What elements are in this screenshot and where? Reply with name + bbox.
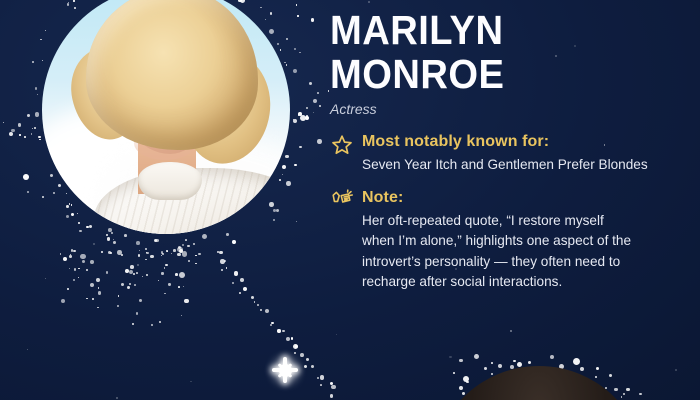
star-dot <box>146 274 149 277</box>
star-dot <box>296 221 297 222</box>
star-dot <box>124 234 127 237</box>
star-dot <box>132 323 135 326</box>
star-dot <box>130 265 134 269</box>
star-dot <box>317 139 322 144</box>
star-dot <box>19 134 20 135</box>
star-dot <box>116 397 118 399</box>
star-dot <box>113 239 114 240</box>
star-dot <box>179 272 185 278</box>
star-dot <box>299 52 300 53</box>
star-dot <box>106 234 108 236</box>
star-dot <box>117 250 122 255</box>
star-dot <box>298 112 302 116</box>
star-dot <box>550 355 554 359</box>
star-dot <box>304 365 307 368</box>
star-dot <box>300 115 306 121</box>
star-dot <box>181 315 183 317</box>
star-dot <box>219 251 223 255</box>
star-dot <box>73 279 75 281</box>
star-dot <box>92 298 94 300</box>
star-dot <box>623 393 625 395</box>
star-dot <box>139 299 142 302</box>
star-dot <box>202 234 207 239</box>
star-dot <box>158 280 159 281</box>
star-dot <box>171 253 172 254</box>
star-dot <box>136 241 140 245</box>
star-dot <box>69 255 72 258</box>
section-note: Note: Her oft-repeated quote, “I restore… <box>330 189 688 293</box>
star-dot <box>35 112 39 116</box>
star-dot <box>187 245 190 248</box>
star-dot <box>317 92 319 94</box>
star-dot <box>27 114 30 117</box>
star-dot <box>3 122 5 124</box>
title-line-2: MONROE <box>330 52 663 96</box>
star-dot <box>220 259 224 263</box>
star-dot <box>198 253 200 255</box>
star-dot <box>294 352 296 354</box>
star-dot <box>110 252 112 254</box>
star-dot <box>596 367 599 370</box>
star-dot <box>150 255 153 258</box>
star-dot <box>32 128 33 129</box>
note-icon <box>330 189 354 213</box>
section-heading: Note: <box>362 189 688 207</box>
star-dot <box>86 298 88 300</box>
star-dot <box>11 129 14 132</box>
star-dot <box>474 354 479 359</box>
star-dot <box>101 251 103 253</box>
star-dot <box>317 377 319 379</box>
star-dot <box>71 249 73 251</box>
star-dot <box>459 359 462 362</box>
star-dot <box>39 139 40 140</box>
star-dot <box>251 296 254 299</box>
page-title: MARILYN MONROE <box>330 8 663 96</box>
star-dot <box>161 272 163 274</box>
star-dot <box>510 330 512 332</box>
star-dot <box>466 381 468 383</box>
star-dot <box>621 396 623 398</box>
star-dot <box>129 270 133 274</box>
star-dot <box>260 309 262 311</box>
section-body: Seven Year Itch and Gentlemen Prefer Blo… <box>362 155 688 176</box>
star-dot <box>161 251 163 253</box>
star-dot <box>133 273 135 275</box>
star-dot <box>306 358 310 362</box>
body-line: recharge after social interactions. <box>362 272 688 293</box>
star-dot <box>178 286 180 288</box>
star-dot <box>306 107 307 108</box>
star-dot <box>173 249 176 252</box>
star-dot <box>80 254 86 260</box>
star-dot <box>293 119 297 123</box>
star-dot <box>74 268 77 271</box>
star-dot <box>296 4 298 6</box>
star-dot <box>271 322 273 324</box>
star-dot <box>336 334 337 335</box>
star-dot <box>224 260 226 262</box>
body-line: Seven Year Itch and Gentlemen Prefer Blo… <box>362 155 688 176</box>
star-dot <box>293 344 298 349</box>
star-dot <box>164 267 165 268</box>
star-dot <box>254 301 256 303</box>
star-dot <box>125 269 129 273</box>
star-dot <box>154 239 157 242</box>
star-dot <box>139 250 140 251</box>
next-portrait-avatar <box>432 366 646 400</box>
star-dot <box>299 146 302 149</box>
star-dot <box>217 251 219 253</box>
body-line: Her oft-repeated quote, “I restore mysel… <box>362 211 688 232</box>
star-dot <box>145 259 146 260</box>
star-dot <box>9 132 14 137</box>
star-dot <box>38 136 41 139</box>
star-dot <box>98 291 101 294</box>
star-dot <box>491 362 493 364</box>
star-dot <box>309 82 312 85</box>
sparkle-icon <box>272 357 298 383</box>
star-dot <box>168 283 170 285</box>
star-dot <box>137 264 139 266</box>
star-dot <box>293 119 294 120</box>
star-dot <box>24 136 26 138</box>
star-dot <box>27 349 28 350</box>
star-dot <box>182 244 184 246</box>
star-dot <box>675 369 677 371</box>
title-line-1: MARILYN <box>330 8 663 52</box>
star-dot <box>159 321 161 323</box>
star-dot <box>580 367 584 371</box>
star-dot <box>34 127 36 129</box>
star-dot <box>142 276 143 277</box>
star-dot <box>18 123 22 127</box>
star-dot <box>614 388 617 391</box>
star-dot <box>484 367 487 370</box>
body-line: when I’m alone,” highlights one aspect o… <box>362 231 688 252</box>
role-subtitle: Actress <box>330 101 688 117</box>
star-dot <box>300 353 304 357</box>
star-dot <box>185 239 187 241</box>
star-dot <box>459 386 463 390</box>
star-dot <box>295 345 298 348</box>
star-dot <box>146 252 149 255</box>
star-dot <box>239 292 241 294</box>
star-dot <box>306 115 308 117</box>
star-dot <box>328 90 330 92</box>
star-dot <box>368 1 370 3</box>
star-dot <box>609 374 612 377</box>
star-dot <box>67 288 69 290</box>
star-dot <box>270 324 272 326</box>
star-dot <box>31 133 32 134</box>
body-line: introvert’s personality — they often nee… <box>362 252 688 273</box>
star-dot <box>463 376 469 382</box>
star-dot <box>35 87 38 90</box>
star-dot <box>129 283 131 285</box>
star-dot <box>146 252 147 253</box>
text-column: MARILYN MONROE Actress Most notably know… <box>330 8 688 293</box>
star-dot <box>595 376 597 378</box>
star-dot <box>127 286 130 289</box>
star-dot <box>178 246 181 249</box>
star-dot <box>305 116 310 121</box>
star-dot <box>167 251 168 252</box>
star-dot <box>70 254 72 256</box>
star-dot <box>639 393 641 395</box>
star-dot <box>177 253 181 257</box>
star-dot <box>234 271 239 276</box>
star-dot <box>90 260 94 264</box>
star-dot <box>293 69 297 73</box>
hair-shape <box>86 0 258 150</box>
star-dot <box>134 284 136 286</box>
star-dot <box>96 278 100 282</box>
star-dot <box>232 240 236 244</box>
star-dot <box>193 243 194 244</box>
star-dot <box>195 255 196 256</box>
star-dot <box>330 394 334 398</box>
star-dot <box>626 388 630 392</box>
star-dot <box>60 253 61 254</box>
star-dot <box>517 362 522 367</box>
star-dot <box>165 264 167 266</box>
star-dot <box>93 243 95 245</box>
star-dot <box>136 272 138 274</box>
star-dot <box>298 114 300 116</box>
star-dot <box>513 360 516 363</box>
star-dot <box>190 381 192 383</box>
star-dot <box>573 358 580 365</box>
star-dot <box>184 299 189 304</box>
star-dot <box>69 268 70 269</box>
star-dot <box>232 282 234 284</box>
star-dot <box>27 191 29 193</box>
star-dot <box>78 268 79 269</box>
star-dot <box>311 365 314 368</box>
star-dot <box>291 337 294 340</box>
star-dot <box>155 239 158 242</box>
star-dot <box>297 15 298 16</box>
portrait-avatar <box>42 0 290 234</box>
star-dot <box>166 250 168 252</box>
star-dot <box>61 299 65 303</box>
star-dot <box>113 241 116 244</box>
star-dot <box>63 257 67 261</box>
star-dot <box>121 283 124 286</box>
star-dot <box>37 94 38 95</box>
star-dot <box>107 237 111 241</box>
star-dot <box>286 337 290 341</box>
star-dot <box>320 375 325 380</box>
star-dot <box>162 253 164 255</box>
section-body: Her oft-repeated quote, “I restore mysel… <box>362 211 688 293</box>
star-dot <box>118 295 119 296</box>
star-dot <box>449 356 451 358</box>
star-dot <box>226 267 228 269</box>
star-dot <box>90 283 94 287</box>
star-dot <box>182 251 187 256</box>
star-dot <box>161 255 162 256</box>
star-dot <box>175 273 178 276</box>
star-dot <box>311 18 314 21</box>
infographic-card: MARILYN MONROE Actress Most notably know… <box>0 0 700 400</box>
star-dot <box>106 271 108 273</box>
star-dot <box>78 277 79 278</box>
star-dot <box>195 263 196 264</box>
star-dot <box>330 382 333 385</box>
star-dot <box>177 247 182 252</box>
star-dot <box>528 361 531 364</box>
star-dot <box>86 269 88 271</box>
star-dot <box>45 278 46 279</box>
star-dot <box>243 287 248 292</box>
star-dot <box>498 364 502 368</box>
star-dot <box>331 385 335 389</box>
star-dot <box>108 251 111 254</box>
star-dot <box>240 278 244 282</box>
star-dot <box>221 269 223 271</box>
star-dot <box>98 287 100 289</box>
star-dot <box>453 372 455 374</box>
star-dot <box>277 329 280 332</box>
star-dot <box>138 254 140 256</box>
section-known-for: Most notably known for: Seven Year Itch … <box>330 133 688 176</box>
star-dot <box>136 312 138 314</box>
star-dot <box>294 48 296 50</box>
star-dot <box>82 260 85 263</box>
star-dot <box>257 304 259 306</box>
star-dot <box>117 305 119 307</box>
star-dot <box>282 330 284 332</box>
star-dot <box>179 249 183 253</box>
star-dot <box>313 99 317 103</box>
star-dot <box>145 248 147 250</box>
star-dot <box>319 105 321 107</box>
star-dot <box>313 112 314 113</box>
star-dot <box>164 293 165 294</box>
star-icon <box>330 133 354 157</box>
star-dot <box>294 164 297 167</box>
star-dot <box>188 260 191 263</box>
star-dot <box>320 384 322 386</box>
star-dot <box>265 309 269 313</box>
star-dot <box>23 174 29 180</box>
collar-shape <box>138 162 202 200</box>
star-dot <box>73 250 75 252</box>
section-heading: Most notably known for: <box>362 133 688 151</box>
star-dot <box>97 307 98 308</box>
star-dot <box>183 286 184 287</box>
star-dot <box>32 61 34 63</box>
star-dot <box>121 254 123 256</box>
star-dot <box>151 324 153 326</box>
